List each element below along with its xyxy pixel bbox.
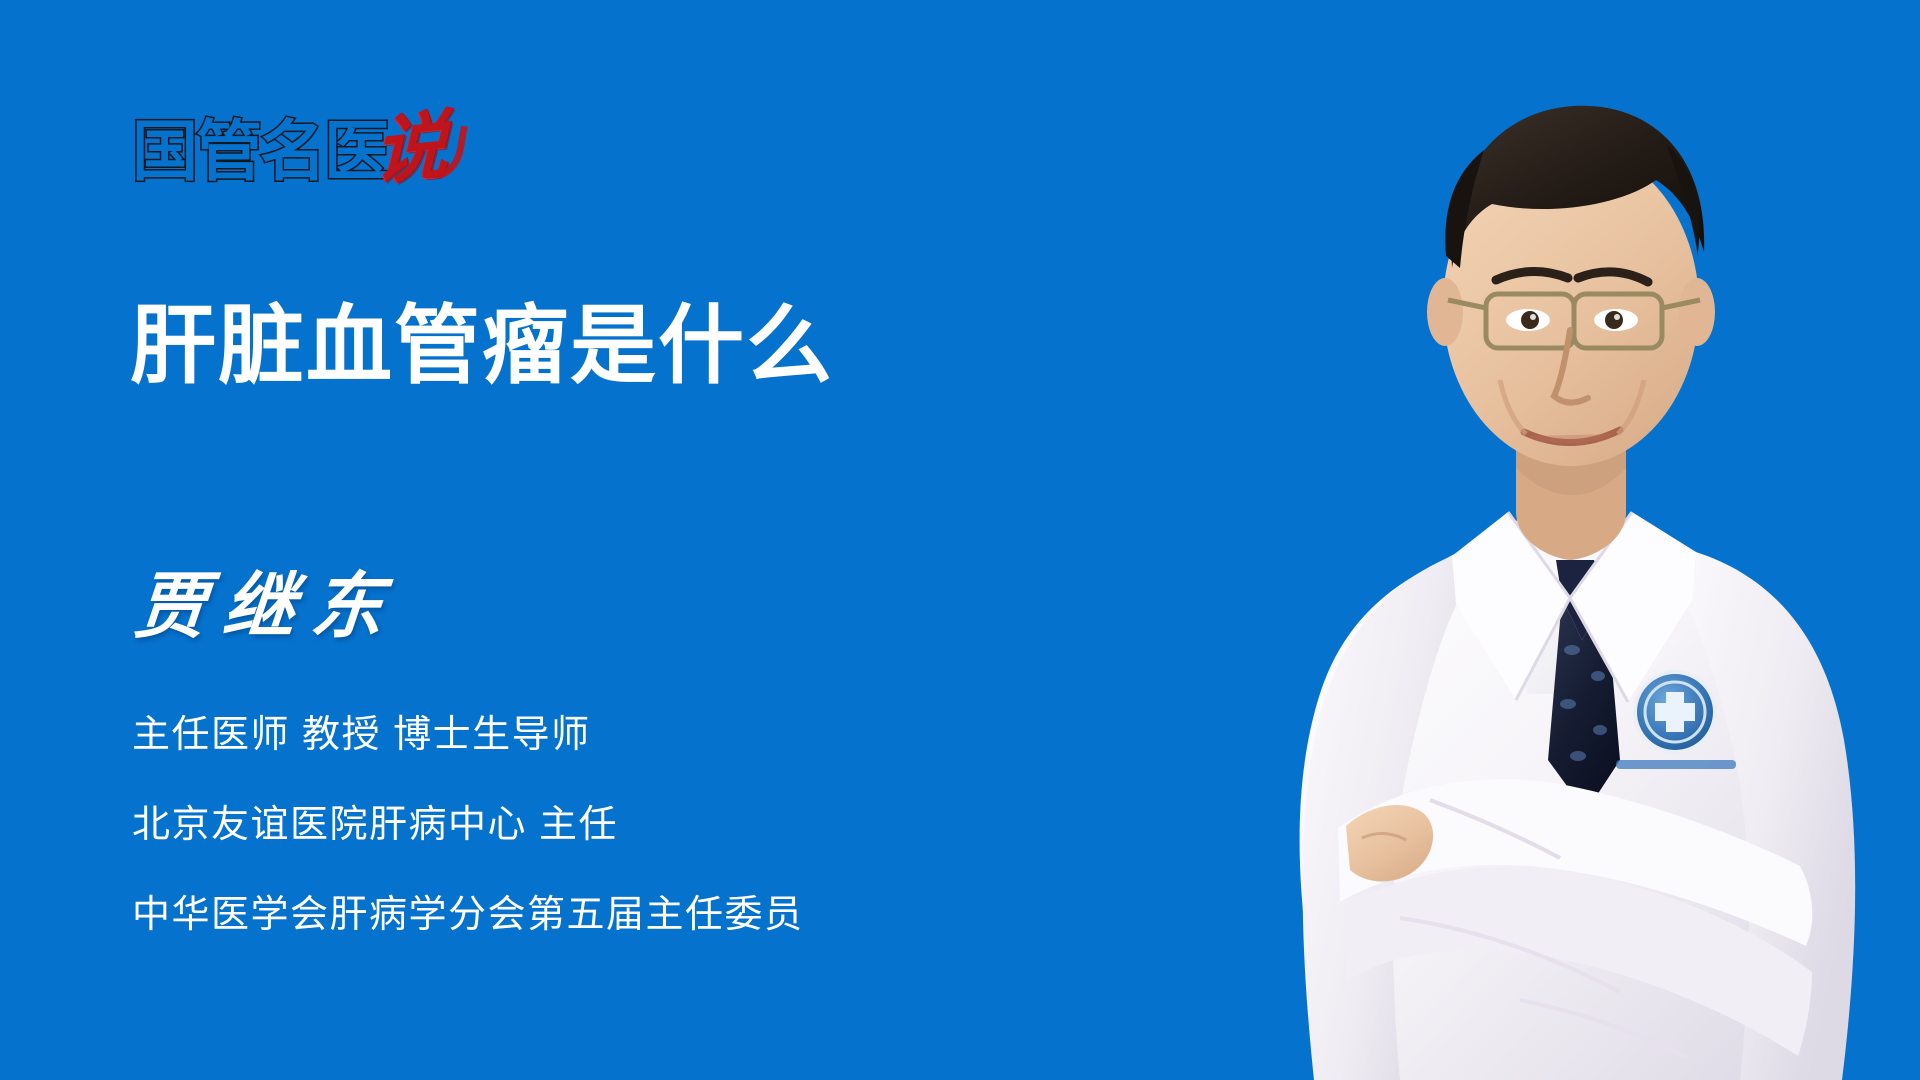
hair	[1452, 106, 1705, 268]
crossed-arms	[1338, 779, 1812, 1058]
brand-logo-main-text: 国管名医	[132, 118, 388, 184]
white-coat	[1300, 520, 1856, 1080]
brand-logo-accent-text: 说	[374, 108, 448, 190]
doctor-credentials: 主任医师 教授 博士生导师 北京友谊医院肝病中心 主任 中华医学会肝病学分会第五…	[132, 716, 1032, 934]
page-title: 肝脏血管瘤是什么	[130, 298, 1130, 394]
credential-line: 主任医师 教授 博士生导师	[132, 716, 1032, 754]
credential-line: 北京友谊医院肝病中心 主任	[132, 806, 1032, 844]
dress-shirt	[1480, 512, 1660, 694]
hospital-badge-icon	[1616, 670, 1736, 769]
brand-logo: 国管名医 说	[132, 92, 448, 184]
doctor-portrait	[1100, 0, 1920, 1080]
glasses-icon	[1448, 294, 1700, 348]
slide-canvas: 国管名医 说 肝脏血管瘤是什么 贾继东 主任医师 教授 博士生导师 北京友谊医院…	[0, 0, 1920, 1080]
doctor-name: 贾继东	[132, 570, 402, 642]
head	[1427, 106, 1715, 469]
necktie	[1548, 560, 1620, 812]
coat-lapels	[1452, 512, 1696, 702]
neck	[1516, 420, 1626, 560]
credential-line: 中华医学会肝病学分会第五届主任委员	[132, 896, 1032, 934]
